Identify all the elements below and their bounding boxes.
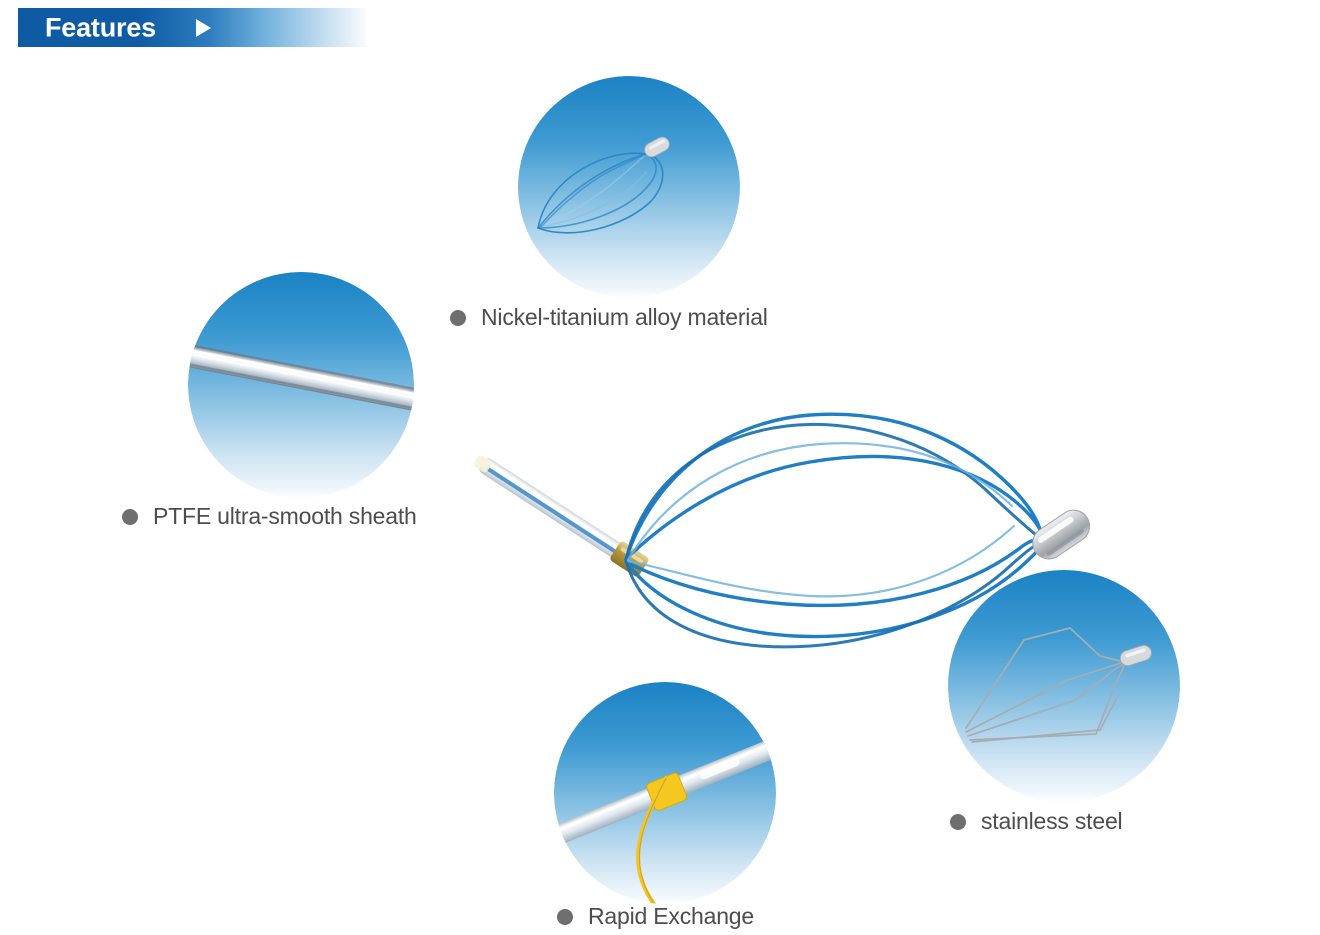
triangle-right-icon	[196, 19, 211, 37]
basket-wires	[626, 414, 1044, 636]
helical-basket-illustration	[390, 310, 1150, 660]
feature-label-nickel-titanium: Nickel-titanium alloy material	[450, 304, 768, 331]
nitinol-basket-illustration	[518, 76, 740, 298]
feature-label-text: Rapid Exchange	[588, 903, 754, 930]
feature-image-rapid-exchange	[554, 682, 776, 904]
metal-tip	[642, 135, 672, 160]
feature-label-text: Nickel-titanium alloy material	[481, 304, 768, 331]
feature-label-ptfe: PTFE ultra-smooth sheath	[122, 503, 417, 530]
distal-metal-tip	[1027, 504, 1096, 565]
main-device-photo	[390, 310, 1150, 660]
rapid-exchange-illustration	[554, 682, 776, 904]
bullet-dot-icon	[450, 310, 466, 326]
feature-image-ptfe-sheath	[188, 272, 414, 498]
feature-image-nickel-titanium	[518, 76, 740, 298]
ptfe-sheath-illustration	[188, 272, 414, 498]
features-banner: Features	[18, 8, 370, 47]
bullet-dot-icon	[122, 509, 138, 525]
features-title: Features	[45, 14, 156, 41]
feature-label-stainless-steel: stainless steel	[950, 808, 1122, 835]
feature-label-text: stainless steel	[981, 808, 1122, 835]
bullet-dot-icon	[950, 814, 966, 830]
bullet-dot-icon	[557, 909, 573, 925]
feature-label-text: PTFE ultra-smooth sheath	[153, 503, 417, 530]
catheter-shaft	[470, 450, 650, 578]
feature-label-rapid-exchange: Rapid Exchange	[557, 903, 754, 930]
